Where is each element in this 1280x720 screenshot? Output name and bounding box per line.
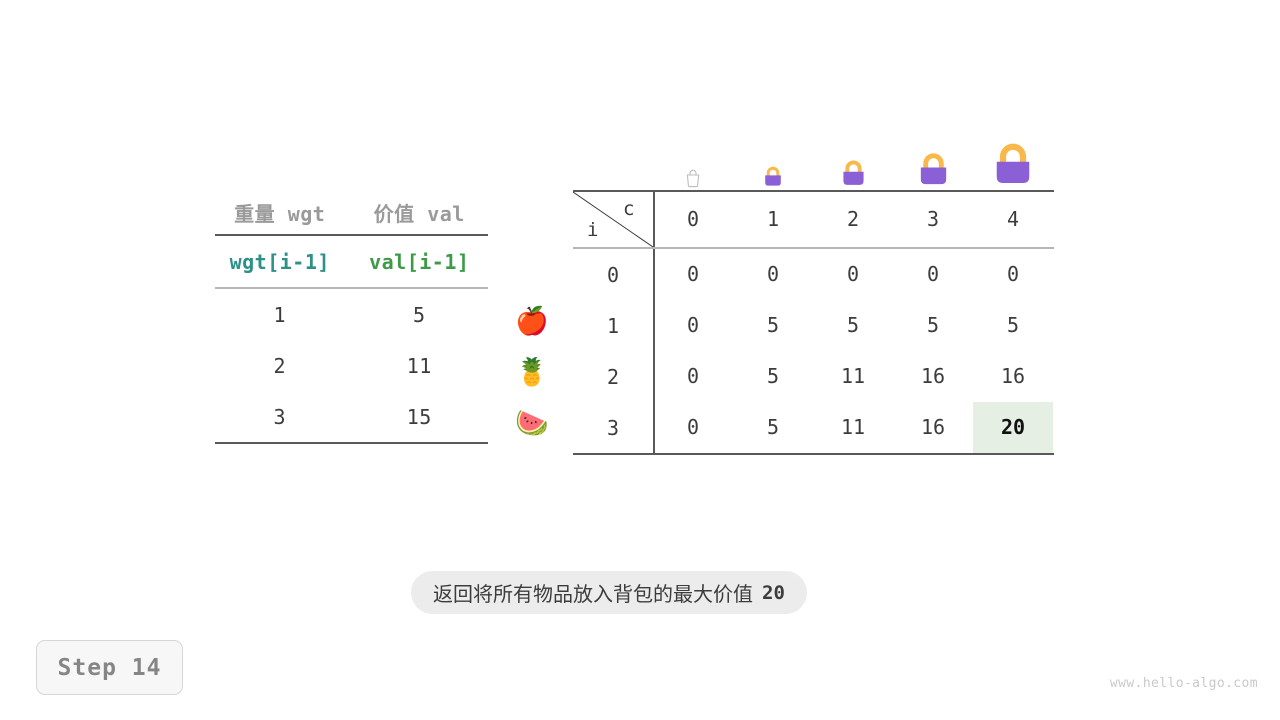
dp-col-header-4: 4: [973, 192, 1053, 247]
dp-col-header-2: 2: [813, 192, 893, 247]
dp-row-header-3: 3: [573, 416, 653, 440]
item-weight-3: 3: [215, 405, 355, 429]
items-subheader-value: val[i-1]: [355, 250, 489, 274]
fruit-column: 🍎 🍍 🍉: [508, 296, 556, 449]
item-value-2: 11: [355, 354, 489, 378]
bag-capacity-strip: [573, 126, 1054, 188]
apple-icon: 🍎: [508, 296, 556, 347]
items-table: 重量 wgt 价值 val wgt[i-1] val[i-1] 1 5 2 11…: [215, 190, 488, 444]
table-row: 2 11: [215, 340, 488, 391]
dp-cell-2-2: 11: [813, 351, 893, 402]
bag-icon-capacity-1: [733, 126, 813, 188]
step-badge-label: Step 14: [58, 655, 162, 681]
result-caption-value: 20: [762, 582, 785, 604]
dp-cell-3-4-highlighted: 20: [973, 402, 1053, 453]
item-weight-1: 1: [215, 303, 355, 327]
dp-cell-1-4: 5: [973, 300, 1053, 351]
dp-cell-2-3: 16: [893, 351, 973, 402]
dp-vertical-divider: [653, 300, 655, 351]
table-row: 1 5: [215, 289, 488, 340]
dp-row-header-0: 0: [573, 263, 653, 287]
watermelon-icon: 🍉: [508, 398, 556, 449]
dp-cell-2-0: 0: [653, 351, 733, 402]
dp-row-header-1: 1: [573, 314, 653, 338]
dp-row-header-2: 2: [573, 365, 653, 389]
pineapple-icon: 🍍: [508, 347, 556, 398]
bag-icon-capacity-4: [973, 126, 1053, 188]
items-title-weight: 重量 wgt: [215, 198, 355, 227]
table-row: 0 0 0 0 0 0: [573, 249, 1054, 300]
bag-icon-capacity-2: [813, 126, 893, 188]
dp-axis-label-i: i: [587, 219, 598, 241]
dp-cell-1-3: 5: [893, 300, 973, 351]
dp-col-header-0: 0: [653, 192, 733, 247]
dp-col-header-3: 3: [893, 192, 973, 247]
dp-vertical-divider: [653, 351, 655, 402]
items-table-rule-bottom: [215, 442, 488, 444]
dp-cell-1-0: 0: [653, 300, 733, 351]
dp-cell-1-1: 5: [733, 300, 813, 351]
dp-cell-0-4: 0: [973, 249, 1053, 300]
item-weight-2: 2: [215, 354, 355, 378]
step-badge: Step 14: [36, 640, 183, 695]
table-row: 3 15: [215, 391, 488, 442]
corner-diagonal-divider: [573, 192, 653, 247]
dp-table: c i 0 1 2 3 4 0 0 0 0 0 0 1 0 5 5 5 5 2 …: [573, 190, 1054, 455]
bag-icon-capacity-0: [653, 126, 733, 188]
result-caption: 返回将所有物品放入背包的最大价值 20: [411, 571, 807, 614]
table-row: 1 0 5 5 5 5: [573, 300, 1054, 351]
dp-cell-0-3: 0: [893, 249, 973, 300]
dp-cell-3-0: 0: [653, 402, 733, 453]
items-title-value: 价值 val: [355, 198, 489, 227]
watermark: www.hello-algo.com: [1110, 676, 1258, 691]
dp-table-header-row: c i 0 1 2 3 4: [573, 192, 1054, 247]
table-row: 2 0 5 11 16 16: [573, 351, 1054, 402]
dp-cell-3-3: 16: [893, 402, 973, 453]
dp-axis-label-c: c: [623, 198, 634, 220]
items-table-title-row: 重量 wgt 价值 val: [215, 190, 488, 234]
dp-vertical-divider: [653, 249, 655, 300]
items-table-subheader-row: wgt[i-1] val[i-1]: [215, 236, 488, 287]
dp-cell-2-1: 5: [733, 351, 813, 402]
items-subheader-weight: wgt[i-1]: [215, 250, 355, 274]
table-row: 3 0 5 11 16 20: [573, 402, 1054, 453]
item-value-3: 15: [355, 405, 489, 429]
dp-col-header-1: 1: [733, 192, 813, 247]
item-value-1: 5: [355, 303, 489, 327]
dp-table-rule-bottom: [573, 453, 1054, 455]
dp-cell-2-4: 16: [973, 351, 1053, 402]
dp-cell-3-2: 11: [813, 402, 893, 453]
dp-cell-0-1: 0: [733, 249, 813, 300]
dp-cell-0-0: 0: [653, 249, 733, 300]
dp-cell-1-2: 5: [813, 300, 893, 351]
dp-cell-0-2: 0: [813, 249, 893, 300]
dp-cell-3-1: 5: [733, 402, 813, 453]
result-caption-text: 返回将所有物品放入背包的最大价值: [433, 578, 753, 607]
bag-icon-capacity-3: [893, 126, 973, 188]
dp-vertical-divider: [653, 402, 655, 453]
